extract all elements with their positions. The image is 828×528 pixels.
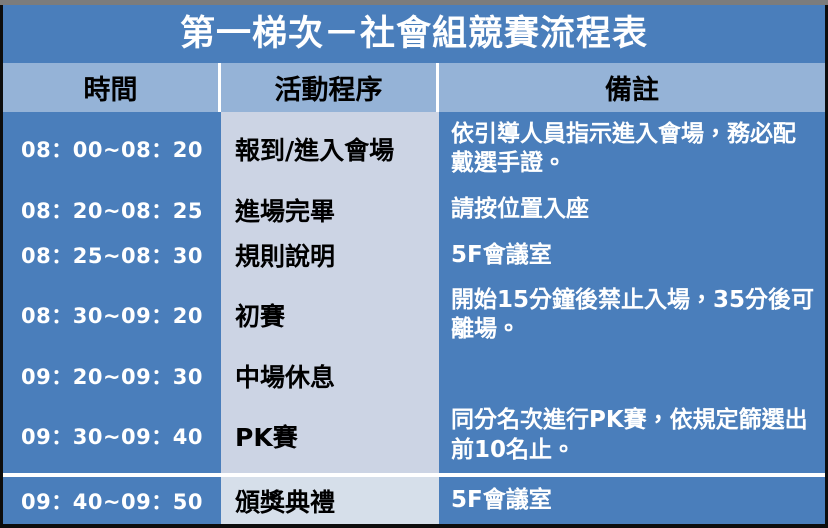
cell-time: 08：25~08：30 (3, 232, 221, 278)
cell-note: 同分名次進行PK賽，依規定篩選出前10名止。 (439, 399, 825, 474)
title-row: 第一梯次－社會組競賽流程表 (3, 5, 825, 63)
table-row: 09：30~09：40 PK賽 同分名次進行PK賽，依規定篩選出前10名止。 (3, 399, 825, 474)
cell-note: 請按位置入座 (439, 187, 825, 233)
cell-program: 報到/進入會場 (221, 112, 439, 187)
table-row: 09：20~09：30 中場休息 (3, 353, 825, 399)
cell-note: 開始15分鐘後禁止入場，35分後可離場。 (439, 278, 825, 353)
cell-time: 08：30~09：20 (3, 278, 221, 353)
cell-note: 5F會議室 (439, 473, 825, 524)
cell-note: 依引導人員指示進入會場，務必配戴選手證。 (439, 112, 825, 187)
screenshot-canvas: 第一梯次－社會組競賽流程表 時間 活動程序 備註 08：00~08：20 報到/… (0, 0, 828, 528)
schedule-sheet: 第一梯次－社會組競賽流程表 時間 活動程序 備註 08：00~08：20 報到/… (0, 5, 828, 528)
cell-program: 規則說明 (221, 232, 439, 278)
cell-program: 初賽 (221, 278, 439, 353)
header-row: 時間 活動程序 備註 (3, 63, 825, 112)
table-row: 08：20~08：25 進場完畢 請按位置入座 (3, 187, 825, 233)
cell-note (439, 353, 825, 399)
cell-program: 進場完畢 (221, 187, 439, 233)
table-row: 08：25~08：30 規則說明 5F會議室 (3, 232, 825, 278)
column-header-program: 活動程序 (221, 63, 439, 112)
cell-time: 08：20~08：25 (3, 187, 221, 233)
cell-time: 08：00~08：20 (3, 112, 221, 187)
column-header-note: 備註 (439, 63, 825, 112)
table-row: 08：30~09：20 初賽 開始15分鐘後禁止入場，35分後可離場。 (3, 278, 825, 353)
column-header-time: 時間 (3, 63, 221, 112)
cell-program: PK賽 (221, 399, 439, 474)
cell-time: 09：30~09：40 (3, 399, 221, 474)
table-row: 08：00~08：20 報到/進入會場 依引導人員指示進入會場，務必配戴選手證。 (3, 112, 825, 187)
schedule-table: 第一梯次－社會組競賽流程表 時間 活動程序 備註 08：00~08：20 報到/… (3, 5, 825, 524)
table-row: 09：40~09：50 頒獎典禮 5F會議室 (3, 473, 825, 524)
cell-time: 09：20~09：30 (3, 353, 221, 399)
cell-time: 09：40~09：50 (3, 473, 221, 524)
page-title: 第一梯次－社會組競賽流程表 (3, 5, 825, 63)
cell-program: 中場休息 (221, 353, 439, 399)
cell-program: 頒獎典禮 (221, 473, 439, 524)
cell-note: 5F會議室 (439, 232, 825, 278)
